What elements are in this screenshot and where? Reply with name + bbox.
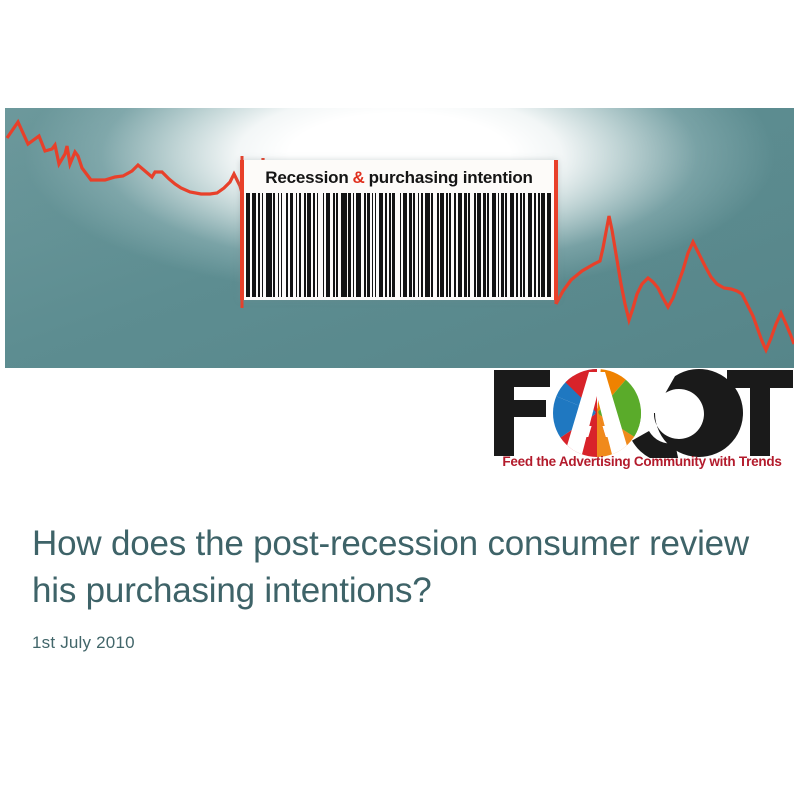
barcode-left-edge	[240, 160, 244, 300]
page-title: How does the post-recession consumer rev…	[32, 520, 762, 614]
page-date: 1st July 2010	[32, 633, 762, 653]
barcode-guard-bar	[547, 193, 551, 297]
barcode-title: Recession & purchasing intention	[248, 164, 550, 192]
barcode-right-edge	[554, 160, 558, 300]
barcode-title-suffix: purchasing intention	[369, 168, 533, 188]
fact-letter-f	[494, 370, 550, 456]
barcode-graphic: Recession & purchasing intention	[240, 160, 558, 300]
barcode-bars	[246, 193, 552, 297]
barcode-title-prefix: Recession	[265, 168, 348, 188]
fact-wordmark	[489, 368, 795, 458]
hero-banner: Recession & purchasing intention	[5, 108, 794, 368]
trend-line-left	[7, 122, 263, 214]
fact-logo: Feed the Advertising Community with Tren…	[489, 368, 795, 480]
fact-tagline: Feed the Advertising Community with Tren…	[489, 454, 795, 469]
title-block: How does the post-recession consumer rev…	[32, 520, 762, 653]
fact-letter-c	[632, 369, 743, 458]
trend-line-right	[556, 216, 794, 350]
barcode-title-ampersand: &	[353, 168, 365, 188]
